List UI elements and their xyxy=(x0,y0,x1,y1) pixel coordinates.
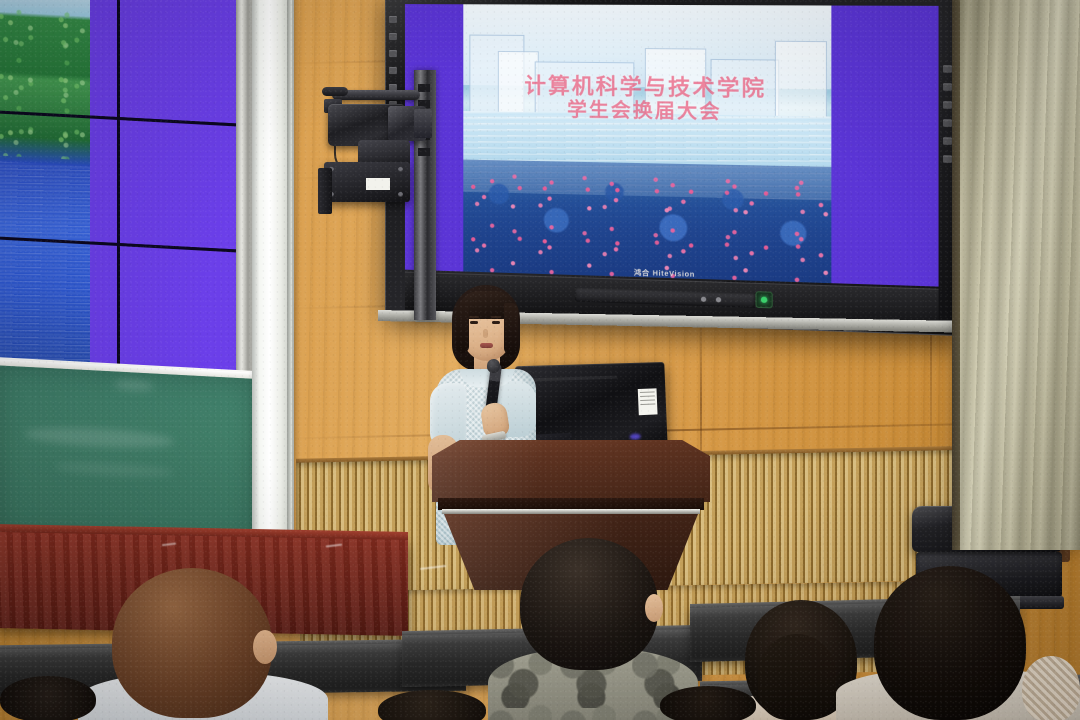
presenter-mouth xyxy=(480,343,493,348)
window-curtain xyxy=(960,0,1080,550)
slide-building xyxy=(710,59,779,120)
audience-member-ponytail xyxy=(758,634,836,720)
presenter-eyebrow xyxy=(469,316,479,318)
wall-pillar-edge xyxy=(287,0,292,590)
audience-member-head xyxy=(660,686,756,720)
video-wall-cell xyxy=(118,0,242,125)
video-wall-frame xyxy=(236,0,253,376)
panel-power-button[interactable] xyxy=(755,291,772,308)
video-wall-cell xyxy=(118,244,242,377)
audience-member-head xyxy=(520,538,658,670)
lecture-hall-photo: 计算机科学与技术学院 学生会换届大会 鸿合 HiteVision xyxy=(0,0,1080,720)
camera-asset-label xyxy=(366,178,390,190)
audience-member-head xyxy=(112,568,272,718)
chalkboard xyxy=(0,365,256,551)
camera-lens-hood xyxy=(414,109,432,138)
audience-member-ear xyxy=(253,630,277,664)
panel-brand-label: 鸿合 HiteVision xyxy=(634,268,695,280)
slide-building xyxy=(498,51,539,116)
presenter-nose xyxy=(483,329,488,338)
video-wall-feed xyxy=(0,0,90,368)
presenter-hair-side xyxy=(504,303,518,355)
camera-microphone xyxy=(322,87,348,96)
audience-member-ear xyxy=(645,594,663,622)
video-wall xyxy=(0,0,242,377)
camera-mount-arm xyxy=(318,168,332,214)
audience-member-head xyxy=(874,566,1026,720)
slide-building xyxy=(535,61,635,117)
slide-building xyxy=(645,48,706,119)
slide-flowers xyxy=(463,165,831,284)
presenter-hair-side xyxy=(456,303,469,353)
presenter-eye xyxy=(470,321,478,324)
lectern-sheen xyxy=(432,440,710,502)
monitor-asset-label xyxy=(638,388,658,415)
video-wall-cell xyxy=(118,118,242,251)
presenter-eye xyxy=(492,321,500,324)
slide-image: 计算机科学与技术学院 学生会换届大会 xyxy=(463,4,831,283)
lectern-chrome-trim xyxy=(442,509,700,514)
panel-io-strip[interactable] xyxy=(575,287,756,308)
panel-screen[interactable]: 计算机科学与技术学院 学生会换届大会 xyxy=(405,4,939,287)
presenter-eyebrow xyxy=(491,316,501,318)
slide-building xyxy=(775,41,827,121)
wall-mounted-camera xyxy=(318,82,438,222)
audience-lace-top xyxy=(1022,656,1080,720)
audience-member-head xyxy=(0,676,96,720)
